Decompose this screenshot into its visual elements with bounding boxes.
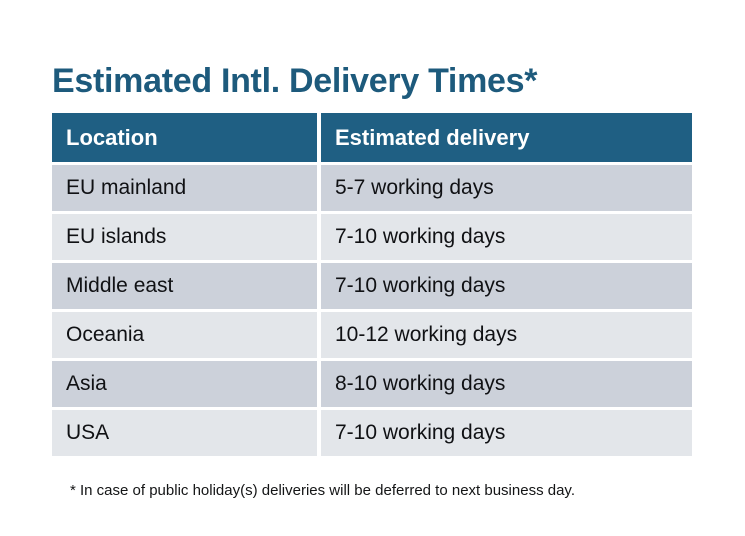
delivery-times-page: Estimated Intl. Delivery Times* Location… [0,0,745,536]
estimated-delivery-table: Location Estimated delivery EU mainland … [52,113,692,456]
table-row: Middle east 7-10 working days [52,263,692,309]
cell-location: USA [52,410,317,456]
table-row: USA 7-10 working days [52,410,692,456]
table-row: EU islands 7-10 working days [52,214,692,260]
cell-location: Oceania [52,312,317,358]
cell-location: Middle east [52,263,317,309]
cell-delivery: 7-10 working days [321,263,692,309]
table-row: Asia 8-10 working days [52,361,692,407]
cell-delivery: 8-10 working days [321,361,692,407]
column-header-location: Location [52,113,317,162]
table-row: EU mainland 5-7 working days [52,165,692,211]
cell-location: Asia [52,361,317,407]
cell-delivery: 10-12 working days [321,312,692,358]
table-row: Oceania 10-12 working days [52,312,692,358]
cell-location: EU mainland [52,165,317,211]
table-header-row: Location Estimated delivery [52,113,692,162]
cell-delivery: 7-10 working days [321,410,692,456]
cell-location: EU islands [52,214,317,260]
column-header-estimated-delivery: Estimated delivery [321,113,692,162]
page-title: Estimated Intl. Delivery Times* [52,59,537,103]
footnote-text: * In case of public holiday(s) deliverie… [70,481,575,501]
cell-delivery: 7-10 working days [321,214,692,260]
cell-delivery: 5-7 working days [321,165,692,211]
